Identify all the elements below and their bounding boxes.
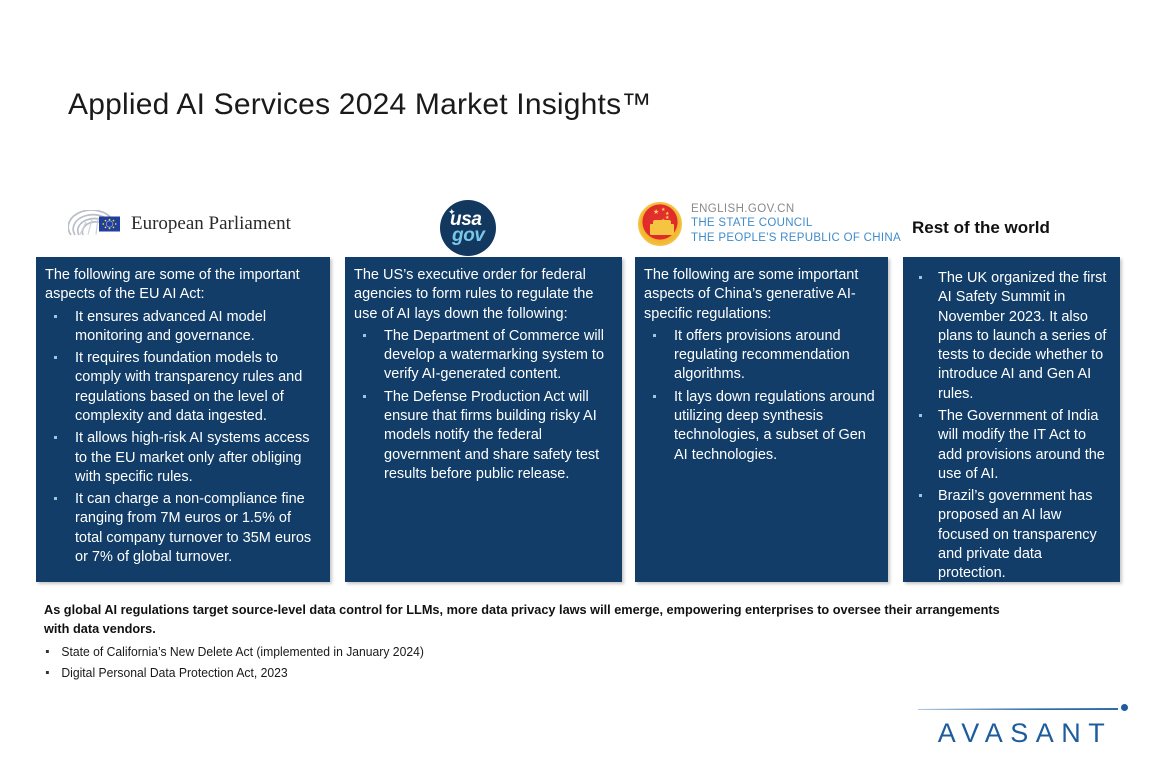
column-header-eu: European Parliament [68,210,291,238]
column-header-china: ★ ★ ★ ★ ★ ENGLISH.GOV.CN THE STATE COUNC… [638,202,901,246]
panel-lead-china: The following are some important aspects… [644,266,877,324]
list-item: The Department of Commerce will develop … [354,327,611,385]
avasant-wordmark: AVASANT [916,718,1134,749]
bullet-text: It ensures advanced AI model monitoring … [75,309,266,344]
china-national-emblem-icon: ★ ★ ★ ★ ★ [638,202,682,246]
list-item: Brazil’s government has proposed an AI l… [912,487,1109,583]
takeaway-item-text: Digital Personal Data Protection Act, 20… [61,666,287,680]
bullet-text: Brazil’s government has proposed an AI l… [938,488,1097,581]
bullet-dot-icon [919,414,922,417]
panel-lead-us: The US’s executive order for federal age… [354,266,611,324]
bullet-dot-icon [46,671,49,674]
takeaway-list: State of California’s New Delete Act (im… [44,642,1054,683]
column-header-rest-of-world: Rest of the world [912,218,1050,238]
bullet-dot-icon [653,395,656,398]
bullet-dot-icon [46,650,49,653]
column-header-us: ✦ usa gov [440,200,496,256]
usagov-logo-line2: gov [452,225,485,247]
china-line1: ENGLISH.GOV.CN [691,203,901,217]
bullet-list-row: The UK organized the first AI Safety Sum… [912,269,1109,584]
bullet-dot-icon [54,497,57,500]
list-item: It offers provisions around regulating r… [644,327,877,385]
bullet-dot-icon [919,276,922,279]
bullet-text: The Department of Commerce will develop … [384,328,604,383]
panel-lead-eu: The following are some of the important … [45,266,319,305]
bullet-list-china: It offers provisions around regulating r… [644,327,877,465]
slide-canvas: Applied AI Services 2024 Market Insights… [0,0,1152,768]
takeaway-item-text: State of California’s New Delete Act (im… [61,645,424,659]
bullet-dot-icon [363,395,366,398]
panel-rest-of-world: The UK organized the first AI Safety Sum… [903,257,1120,582]
bullet-text: It requires foundation models to comply … [75,350,302,424]
list-item: It ensures advanced AI model monitoring … [45,308,319,347]
bullet-text: The UK organized the first AI Safety Sum… [938,270,1106,402]
takeaway-section: As global AI regulations target source-l… [44,600,1054,683]
panel-us: The US’s executive order for federal age… [345,257,622,582]
bullet-text: It offers provisions around regulating r… [674,328,850,383]
list-item: It can charge a non-compliance fine rang… [45,490,319,567]
list-item: The UK organized the first AI Safety Sum… [912,269,1109,404]
avasant-dot-icon [1121,704,1128,711]
list-item: The Defense Production Act will ensure t… [354,388,611,484]
bullet-text: The Defense Production Act will ensure t… [384,389,599,482]
list-item: It lays down regulations around utilizin… [644,388,877,465]
bullet-list-eu: It ensures advanced AI model monitoring … [45,308,319,568]
china-gov-wordmark: ENGLISH.GOV.CN THE STATE COUNCIL THE PEO… [691,203,901,246]
list-item: It requires foundation models to comply … [45,349,319,426]
avasant-rule-icon [918,708,1118,710]
panel-china: The following are some important aspects… [635,257,888,582]
china-line2: THE STATE COUNCIL [691,217,901,231]
bullet-text: It can charge a non-compliance fine rang… [75,491,311,565]
bullet-text: The Government of India will modify the … [938,408,1105,482]
bullet-dot-icon [54,356,57,359]
bullet-dot-icon [919,494,922,497]
list-item: Digital Personal Data Protection Act, 20… [44,663,1019,683]
bullet-list-us: The Department of Commerce will develop … [354,327,611,484]
column-header-label-eu: European Parliament [131,213,291,235]
column-headers: European Parliament ✦ usa gov ★ ★ ★ ★ ★ … [0,198,1152,260]
column-header-label-row: Rest of the world [912,218,1050,238]
avasant-logo: AVASANT [916,700,1134,754]
list-item: It allows high-risk AI systems access to… [45,429,319,487]
list-item: The Government of India will modify the … [912,407,1109,484]
bullet-dot-icon [54,315,57,318]
panel-eu: The following are some of the important … [36,257,330,582]
bullet-text: It lays down regulations around utilizin… [674,389,875,463]
list-item: State of California’s New Delete Act (im… [44,642,1019,662]
page-title: Applied AI Services 2024 Market Insights… [68,88,652,122]
bullet-text: It allows high-risk AI systems access to… [75,430,310,485]
european-parliament-icon [68,210,122,238]
usagov-icon: ✦ usa gov [440,200,496,256]
bullet-dot-icon [653,334,656,337]
bullet-dot-icon [54,436,57,439]
bullet-dot-icon [363,334,366,337]
takeaway-headline: As global AI regulations target source-l… [44,600,1019,638]
china-line3: THE PEOPLE'S REPUBLIC OF CHINA [691,232,901,246]
